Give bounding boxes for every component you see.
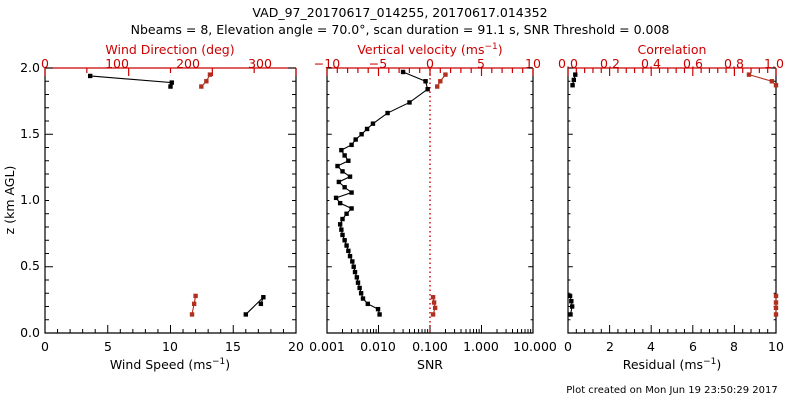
snr-point (340, 169, 344, 173)
snr-point (353, 137, 357, 141)
correlation-point (774, 294, 778, 298)
snr-point (356, 280, 360, 284)
correlation-point (770, 79, 774, 83)
wind-direction-point (208, 72, 212, 76)
snr-point (423, 79, 427, 83)
snr-point (334, 196, 338, 200)
snr-point (344, 243, 348, 247)
plot-canvas (0, 0, 800, 400)
wind-speed-point (88, 74, 92, 78)
vertical-velocity-point (433, 306, 437, 310)
snr-point (350, 259, 354, 263)
wind-speed-point (244, 312, 248, 316)
snr-point (425, 87, 429, 91)
snr-point (337, 180, 341, 184)
wind-direction-point (204, 79, 208, 83)
snr-point (348, 254, 352, 258)
correlation-point (774, 306, 778, 310)
snr-point (366, 302, 370, 306)
correlation-point (774, 312, 778, 316)
snr-point (371, 121, 375, 125)
vertical-velocity-point (443, 72, 447, 76)
snr-point (339, 227, 343, 231)
vertical-velocity-point (431, 312, 435, 316)
snr-point (376, 307, 380, 311)
snr-point (357, 286, 361, 290)
vertical-velocity-point (435, 84, 439, 88)
snr-point (346, 159, 350, 163)
data-layer (88, 69, 778, 332)
residual-point (572, 78, 576, 82)
wind-speed-point (170, 80, 174, 84)
snr-point (349, 190, 353, 194)
snr-point (342, 238, 346, 242)
snr-point (338, 222, 342, 226)
snr-point (346, 249, 350, 253)
snr-point (342, 153, 346, 157)
residual-point (570, 83, 574, 87)
residual-point (573, 72, 577, 76)
vertical-velocity-point (438, 79, 442, 83)
correlation-point (774, 83, 778, 87)
wind-speed-point (168, 84, 172, 88)
axes-layer (45, 68, 776, 333)
snr-point (401, 70, 405, 74)
wind-speed-point (261, 295, 265, 299)
snr-point (352, 265, 356, 269)
vertical-velocity-point (431, 295, 435, 299)
snr-point (361, 296, 365, 300)
panel3-frame (568, 68, 776, 333)
wind-direction-point (192, 302, 196, 306)
correlation-point (747, 72, 751, 76)
snr-point (359, 291, 363, 295)
snr-point (407, 100, 411, 104)
wind-speed-line-upper (90, 76, 172, 87)
snr-point (355, 275, 359, 279)
snr-point (365, 127, 369, 131)
snr-point (385, 111, 389, 115)
snr-point (338, 201, 342, 205)
residual-point (568, 294, 572, 298)
snr-point (344, 212, 348, 216)
wind-direction-point (199, 84, 203, 88)
snr-point (349, 206, 353, 210)
correlation-point (774, 300, 778, 304)
wind-speed-point (259, 302, 263, 306)
snr-point (349, 143, 353, 147)
snr-point (348, 174, 352, 178)
residual-point (570, 304, 574, 308)
residual-point (569, 299, 573, 303)
snr-point (335, 164, 339, 168)
snr-point (339, 148, 343, 152)
snr-point (342, 185, 346, 189)
snr-point (353, 270, 357, 274)
wind-direction-point (193, 294, 197, 298)
snr-point (340, 233, 344, 237)
vad-figure: VAD_97_20170617_014255, 20170617.014352 … (0, 0, 800, 400)
snr-point (359, 132, 363, 136)
panel1-frame (45, 68, 296, 333)
wind-direction-point (190, 312, 194, 316)
residual-point (568, 312, 572, 316)
snr-point (340, 217, 344, 221)
snr-point (377, 312, 381, 316)
vertical-velocity-point (432, 300, 436, 304)
